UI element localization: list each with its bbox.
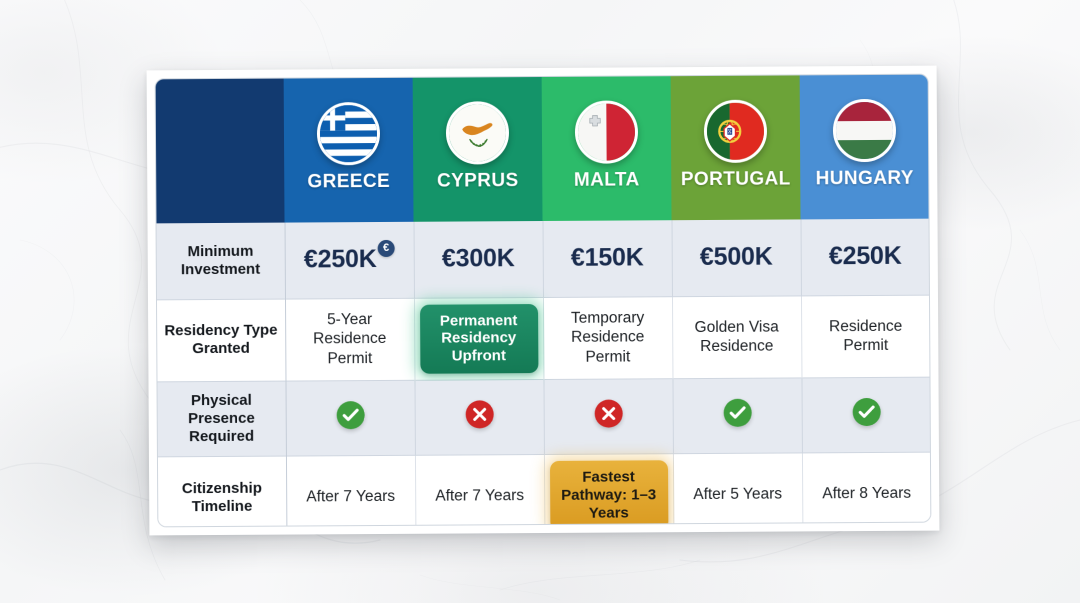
- row-label-physical-presence: Physical Presence Required: [157, 381, 285, 457]
- country-name-label: HUNGARY: [816, 167, 914, 190]
- flag-greece-icon: [317, 101, 380, 164]
- country-name-label: CYPRUS: [437, 170, 519, 192]
- cell-citizenship-greece: After 7 Years: [286, 455, 416, 528]
- cell-investment-hungary: €250K: [801, 219, 930, 296]
- cross-circle-icon: [465, 400, 493, 428]
- flag-portugal-icon: [704, 99, 767, 162]
- row-label-citizenship-timeline: Citizenship Timeline: [158, 456, 287, 528]
- row-label-minimum-investment: Minimum Investment: [157, 223, 285, 300]
- cell-residency-portugal: Golden Visa Residence: [672, 295, 801, 378]
- cell-presence-malta: [543, 378, 672, 454]
- country-header-cyprus[interactable]: CYPRUS: [413, 77, 543, 222]
- country-name-label: GREECE: [307, 170, 390, 193]
- country-header-hungary[interactable]: HUNGARY: [800, 75, 930, 220]
- country-name-label: MALTA: [574, 169, 640, 191]
- table-header-row: GREECE: [156, 75, 930, 224]
- cell-residency-hungary: Residence Permit: [801, 295, 930, 378]
- comparison-card: GREECE: [147, 66, 940, 536]
- cell-text: €250K: [304, 245, 377, 273]
- header-blank-cell: [156, 79, 285, 224]
- highlight-pill-fastest-pathway: Fastest Pathway: 1–3 Years: [549, 460, 667, 528]
- table-row: Minimum Investment €250K€ €300K €150K €5…: [157, 219, 930, 300]
- cell-presence-portugal: [672, 377, 801, 453]
- table-row: Residency Type Granted 5-Year Residence …: [157, 295, 930, 382]
- table-row: Physical Presence Required: [157, 377, 930, 457]
- cell-citizenship-hungary: After 8 Years: [802, 452, 931, 528]
- country-header-malta[interactable]: MALTA: [542, 76, 672, 221]
- check-circle-icon: [852, 398, 880, 426]
- check-circle-icon: [336, 401, 364, 429]
- highlight-pill-permanent-residency: Permanent Residency Upfront: [420, 304, 538, 374]
- row-label-residency-type: Residency Type Granted: [157, 299, 285, 382]
- table-row: Citizenship Timeline After 7 Years After…: [158, 452, 931, 528]
- country-header-greece[interactable]: GREECE: [284, 78, 414, 223]
- cell-residency-cyprus: Permanent Residency Upfront: [414, 297, 543, 380]
- cell-citizenship-cyprus: After 7 Years: [415, 454, 545, 527]
- cell-investment-malta: €150K: [543, 220, 672, 297]
- cell-investment-greece: €250K€: [285, 222, 414, 299]
- cell-presence-hungary: [801, 377, 930, 453]
- country-name-label: PORTUGAL: [681, 168, 791, 191]
- country-header-portugal[interactable]: PORTUGAL: [671, 75, 801, 220]
- euro-badge-icon: €: [377, 240, 394, 257]
- flag-malta-icon: [575, 100, 638, 163]
- check-circle-icon: [723, 399, 751, 427]
- comparison-table: GREECE: [155, 74, 932, 528]
- cell-citizenship-portugal: After 5 Years: [673, 452, 803, 527]
- cell-presence-cyprus: [414, 379, 543, 455]
- cell-citizenship-malta: Fastest Pathway: 1–3 Years: [544, 453, 674, 527]
- flag-hungary-icon: [833, 98, 896, 161]
- cell-residency-greece: 5-Year Residence Permit: [285, 298, 414, 381]
- flag-cyprus-icon: [446, 101, 509, 164]
- cell-investment-portugal: €500K: [672, 219, 801, 296]
- cross-circle-icon: [594, 399, 622, 427]
- cell-residency-malta: Temporary Residence Permit: [543, 296, 672, 379]
- cell-presence-greece: [285, 380, 414, 456]
- cell-investment-cyprus: €300K: [414, 221, 543, 298]
